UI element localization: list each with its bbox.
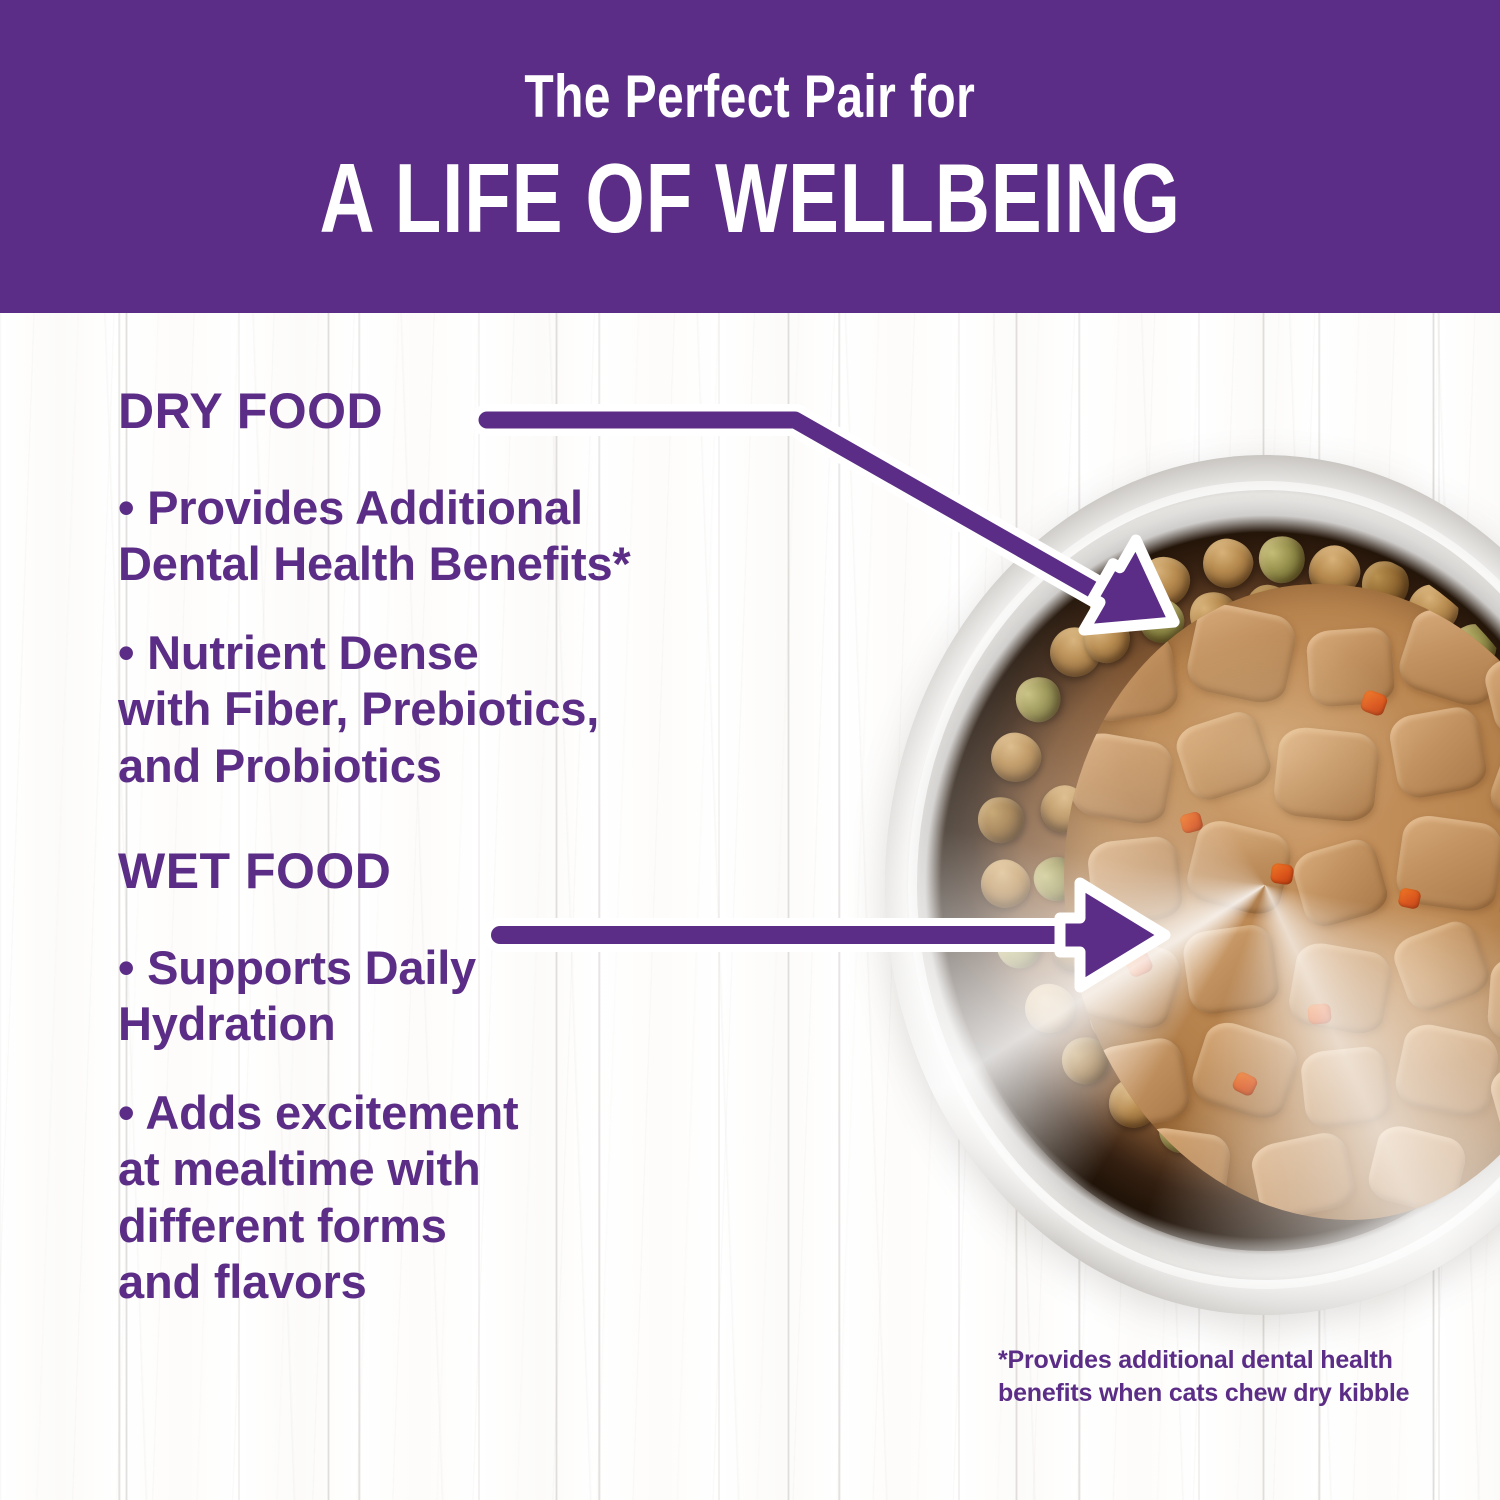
bullet-item: • Provides Additional Dental Health Bene… xyxy=(118,480,818,593)
bullet-item: • Adds excitement at mealtime with diffe… xyxy=(118,1085,818,1311)
section-heading-wet-food: WET FOOD xyxy=(118,846,818,896)
footnote-line: benefits when cats chew dry kibble xyxy=(998,1379,1409,1407)
bowl-rim-highlight xyxy=(885,455,1500,1315)
bullet-dot: • xyxy=(118,626,134,679)
benefits-content: DRY FOOD • Provides Additional Dental He… xyxy=(118,386,818,1310)
header-title: A LIFE OF WELLBEING xyxy=(319,149,1180,247)
bullet-line: Dental Health Benefits* xyxy=(118,537,631,590)
bullet-line: Supports Daily xyxy=(147,941,476,994)
bullet-line: Provides Additional xyxy=(147,481,583,534)
section-heading-dry-food: DRY FOOD xyxy=(118,386,818,436)
bullet-line: different forms xyxy=(118,1199,447,1252)
bullet-line: Hydration xyxy=(118,997,336,1050)
stainless-steel-bowl xyxy=(885,455,1500,1315)
bullet-dot: • xyxy=(118,941,134,994)
bullet-line: and flavors xyxy=(118,1255,367,1308)
bullet-line: Adds excitement xyxy=(145,1086,518,1139)
header-banner: The Perfect Pair for A LIFE OF WELLBEING xyxy=(0,0,1500,313)
bullet-item: • Nutrient Dense with Fiber, Prebiotics,… xyxy=(118,625,818,794)
bullet-line: and Probiotics xyxy=(118,739,442,792)
bullet-item: • Supports Daily Hydration xyxy=(118,940,818,1053)
header-subtitle: The Perfect Pair for xyxy=(525,67,976,127)
infographic-poster: The Perfect Pair for A LIFE OF WELLBEING xyxy=(0,0,1500,1500)
bullet-line: with Fiber, Prebiotics, xyxy=(118,682,599,735)
bullet-line: at mealtime with xyxy=(118,1142,480,1195)
footnote-line: *Provides additional dental health xyxy=(998,1346,1393,1374)
bullet-line: Nutrient Dense xyxy=(147,626,478,679)
bullet-dot: • xyxy=(118,1086,134,1139)
bowl-photo xyxy=(885,455,1500,1325)
bullet-dot: • xyxy=(118,481,134,534)
footnote: *Provides additional dental health benef… xyxy=(998,1344,1418,1409)
